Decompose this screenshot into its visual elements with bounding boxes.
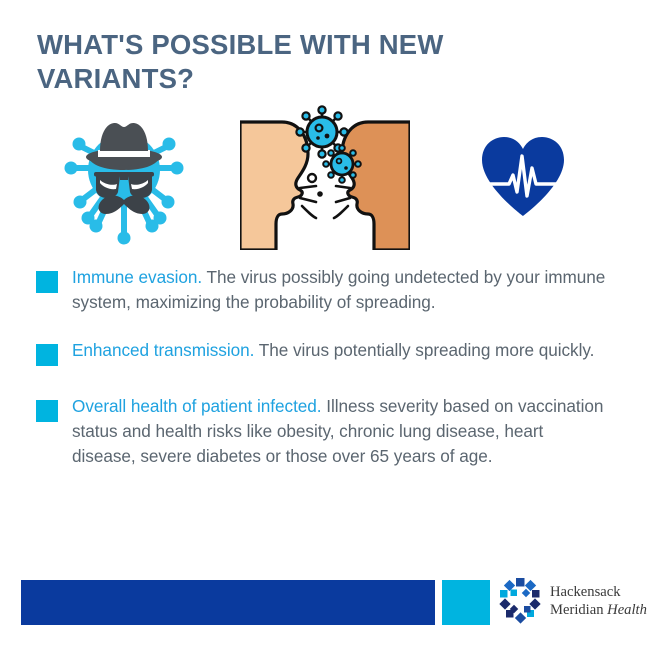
virus-in-disguise-icon [58,108,190,248]
bullet-text: Enhanced transmission. The virus potenti… [72,338,610,363]
logo-meridian: Meridian [550,602,607,618]
footer-cyan-square [442,580,490,625]
logo-line-2: Meridian Health [550,602,647,620]
bullet-list: Immune evasion. The virus possibly going… [0,265,650,491]
bullet-text: Immune evasion. The virus possibly going… [72,265,610,316]
bullet-square-icon [36,271,58,293]
bullet-square-icon [36,400,58,422]
brand-logo: Hackensack Meridian Health [497,577,647,627]
logo-line-1: Hackensack [550,584,647,602]
list-item: Immune evasion. The virus possibly going… [0,265,650,316]
bullet-lead: Overall health of patient infected. [72,396,322,416]
bullet-lead: Enhanced transmission. [72,340,254,360]
page-title: WHAT'S POSSIBLE WITH NEW VARIANTS? [37,28,507,96]
footer-navy-bar [21,580,435,625]
list-item: Overall health of patient infected. Illn… [0,394,650,470]
logo-health: Health [607,602,647,618]
footer: Hackensack Meridian Health [0,572,650,650]
list-item: Enhanced transmission. The virus potenti… [0,338,650,364]
illustration-band [0,100,650,255]
two-heads-transmission-icon [240,102,410,250]
bullet-text: Overall health of patient infected. Illn… [72,394,610,470]
bullet-body: The virus potentially spreading more qui… [254,340,594,360]
heart-heartbeat-icon [478,134,568,219]
logo-mark-icon [497,577,543,627]
bullet-square-icon [36,344,58,366]
logo-wordmark: Hackensack Meridian Health [550,584,647,620]
bullet-lead: Immune evasion. [72,267,202,287]
